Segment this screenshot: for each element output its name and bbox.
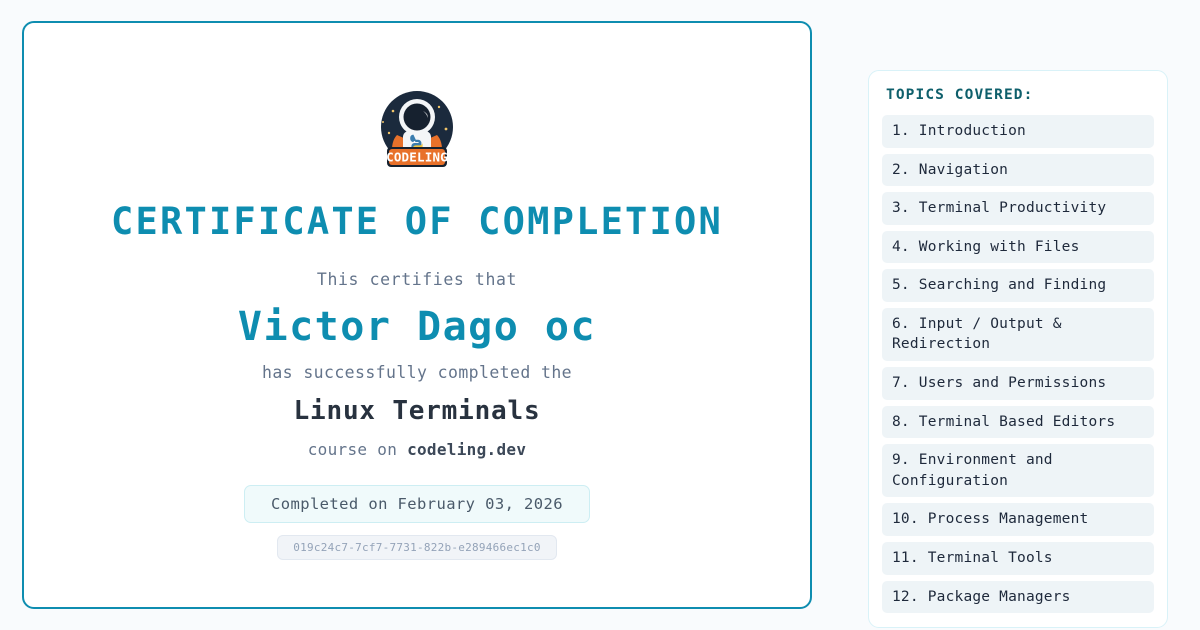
page-title: CERTIFICATE OF COMPLETION	[111, 203, 723, 240]
certificate-card: CODELING CERTIFICATE OF COMPLETION This …	[22, 21, 812, 609]
certificate-page: CODELING CERTIFICATE OF COMPLETION This …	[0, 0, 1200, 630]
course-name: Linux Terminals	[294, 396, 541, 426]
topic-list-item: 8. Terminal Based Editors	[882, 406, 1154, 439]
completed-text: has successfully completed the	[262, 363, 572, 382]
topic-list-item: 10. Process Management	[882, 503, 1154, 536]
topic-list-item: 4. Working with Files	[882, 231, 1154, 264]
topic-list-item: 1. Introduction	[882, 115, 1154, 148]
topic-list-item: 7. Users and Permissions	[882, 367, 1154, 400]
topic-list-item: 9. Environment and Configuration	[882, 444, 1154, 497]
topics-panel-heading: TOPICS COVERED:	[882, 87, 1154, 103]
completion-date-badge: Completed on February 03, 2026	[244, 485, 590, 523]
topic-list-item: 2. Navigation	[882, 154, 1154, 187]
topic-list-item: 5. Searching and Finding	[882, 269, 1154, 302]
course-on-prefix: course on	[308, 440, 407, 459]
topic-list-item: 6. Input / Output & Redirection	[882, 308, 1154, 361]
codeling-astronaut-logo-icon: CODELING	[369, 85, 465, 177]
topic-list-item: 3. Terminal Productivity	[882, 192, 1154, 225]
certifies-text: This certifies that	[317, 270, 517, 289]
certificate-id-badge: 019c24c7-7cf7-7731-822b-e289466ec1c0	[277, 535, 556, 560]
topics-covered-panel: TOPICS COVERED: 1. Introduction2. Naviga…	[868, 70, 1168, 628]
svg-text:CODELING: CODELING	[386, 149, 448, 164]
topic-list-item: 12. Package Managers	[882, 581, 1154, 614]
topics-list: 1. Introduction2. Navigation3. Terminal …	[882, 115, 1154, 613]
recipient-name: Victor Dago oc	[238, 305, 596, 349]
topic-list-item: 11. Terminal Tools	[882, 542, 1154, 575]
course-domain: codeling.dev	[407, 440, 526, 459]
course-provider-line: course on codeling.dev	[308, 440, 527, 459]
